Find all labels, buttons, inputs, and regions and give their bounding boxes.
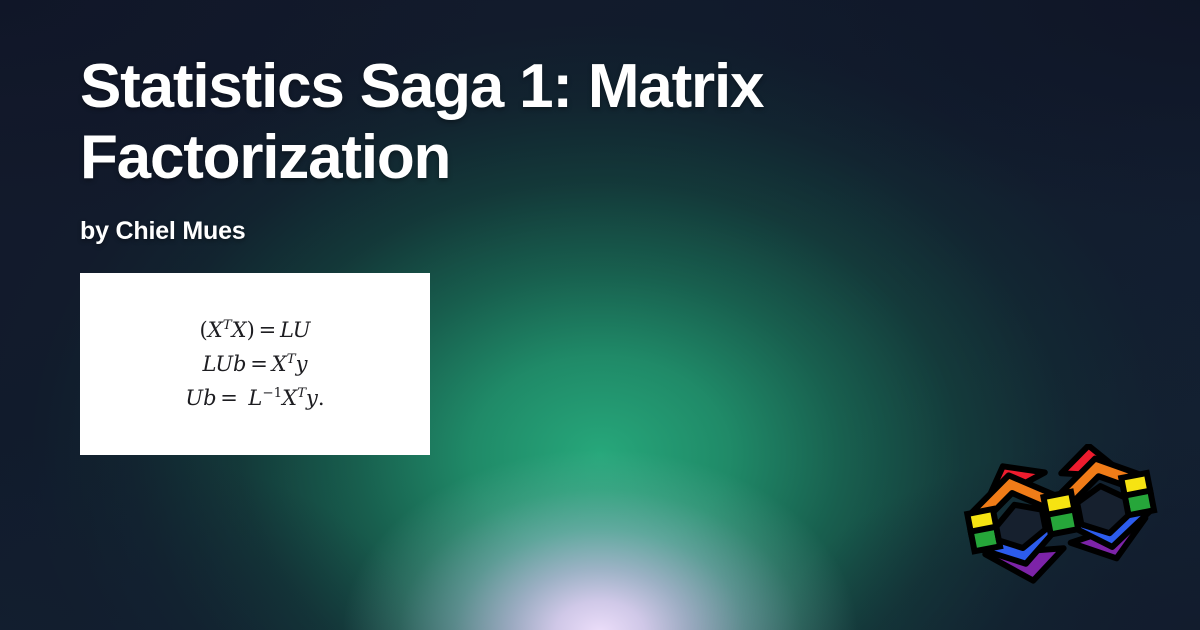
formula-line-3: Ub= L−1XTy. — [185, 381, 324, 415]
page-title: Statistics Saga 1: Matrix Factorization — [80, 52, 880, 193]
background-lavender-glow — [320, 433, 880, 630]
author-byline: by Chiel Mues — [80, 217, 1200, 246]
formula-line-2: LUb=XTy — [185, 347, 324, 381]
card-content: Statistics Saga 1: Matrix Factorization … — [0, 0, 1200, 455]
logo-green-center-segment — [1047, 509, 1078, 534]
social-card: Statistics Saga 1: Matrix Factorization … — [0, 0, 1200, 630]
math-formula-block: (XTX)=LU LUb=XTy Ub= L−1XTy. — [185, 313, 324, 415]
formula-line-1: (XTX)=LU — [185, 313, 324, 347]
formula-card: (XTX)=LU LUb=XTy Ub= L−1XTy. — [80, 273, 430, 455]
rainbow-infinity-logo — [962, 444, 1162, 594]
